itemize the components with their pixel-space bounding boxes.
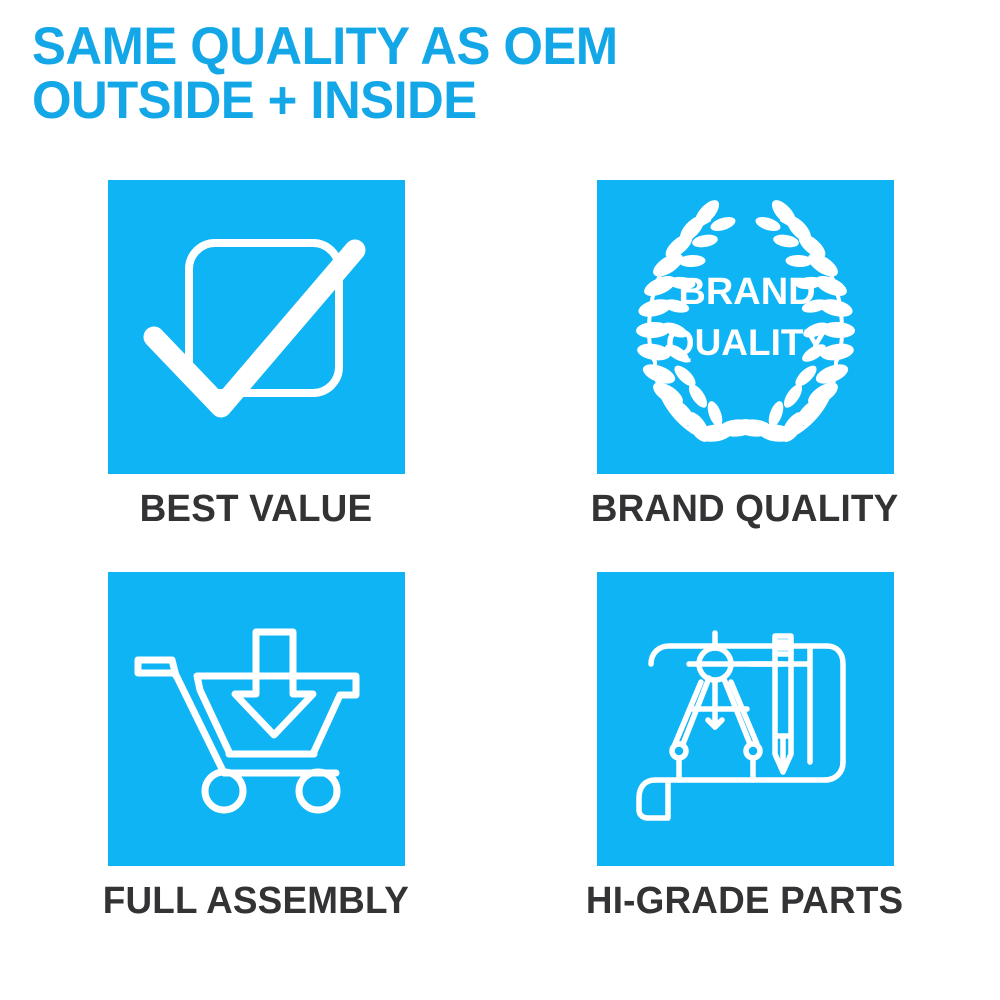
page-title: SAME QUALITY AS OEM OUTSIDE + INSIDE	[32, 20, 932, 128]
feature-tile-hi-grade-parts	[597, 572, 894, 866]
feature-tile-full-assembly	[108, 572, 405, 866]
feature-label-full-assembly: FULL ASSEMBLY	[103, 880, 409, 922]
shopping-cart-download-icon	[138, 632, 356, 810]
wreath-text-brand: BRAND	[678, 271, 815, 313]
feature-grid: BEST VALUE	[0, 180, 1000, 922]
feature-label-hi-grade-parts: HI-GRADE PARTS	[586, 880, 903, 922]
laurel-wreath-icon	[635, 196, 855, 446]
wreath-text-quality: QUALITY	[665, 322, 828, 363]
feature-item-brand-quality: BRAND QUALITY BRAND QUALITY	[500, 180, 1000, 530]
feature-tile-best-value	[108, 180, 405, 474]
feature-item-best-value: BEST VALUE	[0, 180, 500, 530]
feature-tile-brand-quality: BRAND QUALITY	[597, 180, 894, 474]
page-title-line-2: OUTSIDE + INSIDE	[32, 74, 896, 128]
feature-label-best-value: BEST VALUE	[140, 488, 373, 530]
feature-item-full-assembly: FULL ASSEMBLY	[0, 572, 500, 922]
blueprint-compass-pencil-icon	[639, 633, 843, 818]
checkbox-check-icon	[154, 243, 355, 407]
page-title-line-1: SAME QUALITY AS OEM	[32, 20, 896, 74]
feature-item-hi-grade-parts: HI-GRADE PARTS	[500, 572, 1000, 922]
feature-label-brand-quality: BRAND QUALITY	[591, 488, 899, 530]
